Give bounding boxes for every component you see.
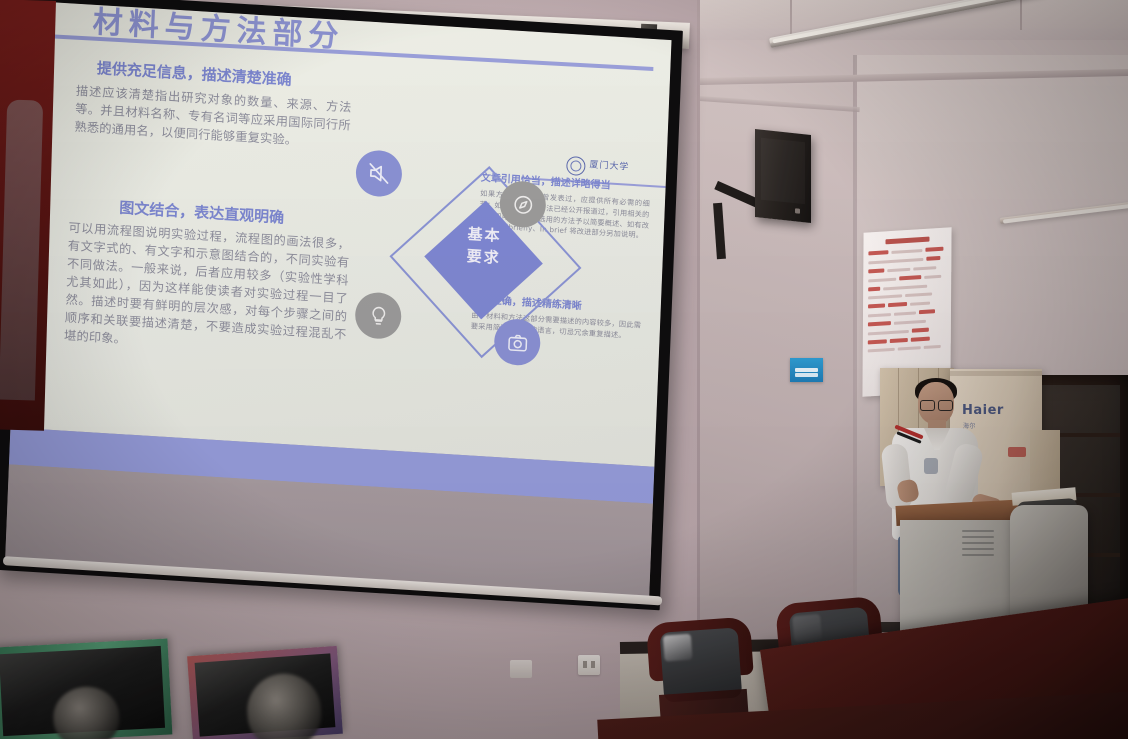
light-suspension-rod (1020, 0, 1022, 30)
poster-row (868, 327, 946, 336)
slide-body-1: 描述应该清楚指出研究对象的数量、来源、方法等。并且材料名称、专有名词等应采用国际… (74, 82, 352, 153)
poster-row (868, 256, 946, 265)
university-seal-icon (566, 155, 586, 175)
poster-row (868, 247, 946, 256)
chair-highlight (663, 634, 693, 662)
poster-title-bar (886, 237, 930, 245)
chair-highlight (792, 614, 822, 642)
speaker-grille (761, 138, 805, 205)
poster-row (868, 345, 946, 353)
box-tape (950, 371, 1042, 376)
poster-row (868, 300, 946, 309)
photo-scene: Haier 海尔 (0, 0, 1128, 739)
slide-body-2: 可以用流程图说明实验过程，流程图的画法很多，有文字式的、有文字和示意图结合的，不… (64, 219, 351, 362)
wall-recess-edge (853, 55, 857, 655)
framed-portrait (187, 646, 343, 739)
poster-row (868, 336, 946, 345)
university-name: 厦门大学 (589, 162, 629, 174)
poster-row (868, 318, 946, 327)
wall-speaker (755, 129, 811, 223)
poster-row (868, 274, 946, 283)
sign-text-bar (795, 373, 818, 377)
safety-sign (790, 358, 823, 382)
poster-row (868, 292, 946, 300)
lightbulb-icon (354, 291, 402, 340)
framed-portrait (0, 638, 172, 739)
diamond-label: 基本 要求 (441, 222, 527, 271)
sign-text-bar (795, 368, 818, 372)
podium-vents (962, 530, 994, 556)
megaphone-icon (355, 149, 403, 198)
banner-inner-panel (0, 100, 43, 401)
slide-canvas: 材料与方法部分 厦门大学 提供充足信息，描述清楚准确 描述应该清楚指出研究对象的… (10, 1, 671, 467)
glasses-icon (920, 400, 953, 409)
wall-socket[interactable] (510, 660, 532, 678)
wall-socket[interactable] (578, 655, 600, 675)
projection-screen: 材料与方法部分 厦门大学 提供充足信息，描述清楚准确 描述应该清楚指出研究对象的… (0, 0, 683, 610)
box-red-mark (1008, 447, 1026, 457)
poster-row (868, 265, 946, 274)
speaker-led (795, 208, 800, 214)
poster-row (868, 309, 946, 318)
screen-surface: 材料与方法部分 厦门大学 提供充足信息，描述清楚准确 描述应该清楚指出研究对象的… (5, 1, 671, 597)
poster-row (868, 283, 946, 292)
shirt-logo (924, 458, 938, 474)
